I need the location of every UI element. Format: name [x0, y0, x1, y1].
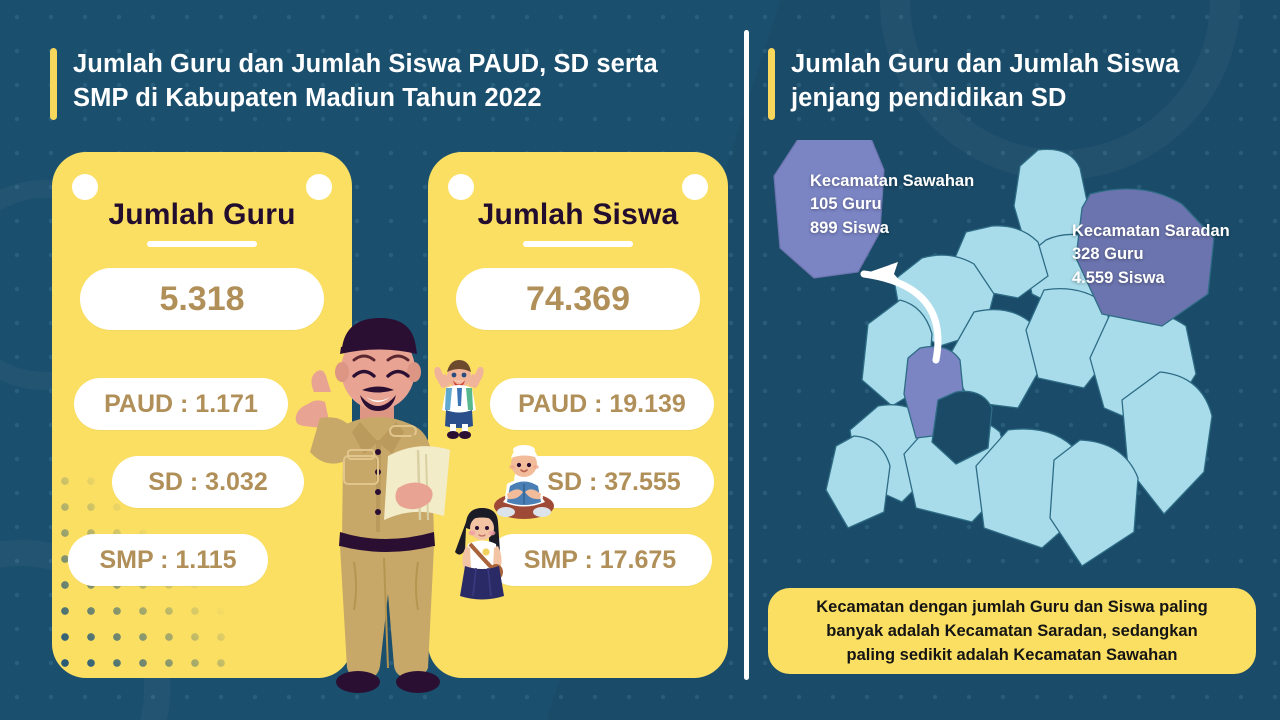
card-heading-underline: [523, 241, 633, 247]
district-light-13: [1050, 440, 1138, 566]
student-paud-illustration: [428, 358, 490, 440]
siswa-total-value: 74.369: [456, 268, 700, 330]
card-heading-guru: Jumlah Guru: [52, 152, 352, 232]
card-heading-siswa: Jumlah Siswa: [428, 152, 728, 232]
district-light-14: [826, 436, 890, 528]
right-panel-title: Jumlah Guru dan Jumlah Siswa jenjang pen…: [768, 48, 1238, 120]
title-accent-bar: [768, 48, 775, 120]
right-title-text: Jumlah Guru dan Jumlah Siswa jenjang pen…: [791, 48, 1179, 115]
title-accent-bar: [50, 48, 57, 120]
left-panel-title: Jumlah Guru dan Jumlah Siswa PAUD, SD se…: [50, 48, 710, 120]
siswa-paud-value: PAUD : 19.139: [490, 378, 714, 430]
panel-divider: [744, 30, 749, 680]
map-label-sawahan: Kecamatan Sawahan 105 Guru 899 Siswa: [810, 170, 974, 240]
left-title-text: Jumlah Guru dan Jumlah Siswa PAUD, SD se…: [73, 48, 658, 115]
infographic-canvas: Jumlah Guru dan Jumlah Siswa PAUD, SD se…: [0, 0, 1280, 720]
student-smp-illustration: [452, 506, 512, 602]
map-label-saradan: Kecamatan Saradan 328 Guru 4.559 Siswa: [1072, 220, 1230, 290]
guru-paud-value: PAUD : 1.171: [74, 378, 288, 430]
card-heading-underline: [147, 241, 257, 247]
siswa-smp-value: SMP : 17.675: [488, 534, 712, 586]
guru-smp-value: SMP : 1.115: [68, 534, 268, 586]
map-caption: Kecamatan dengan jumlah Guru dan Siswa p…: [768, 588, 1256, 674]
